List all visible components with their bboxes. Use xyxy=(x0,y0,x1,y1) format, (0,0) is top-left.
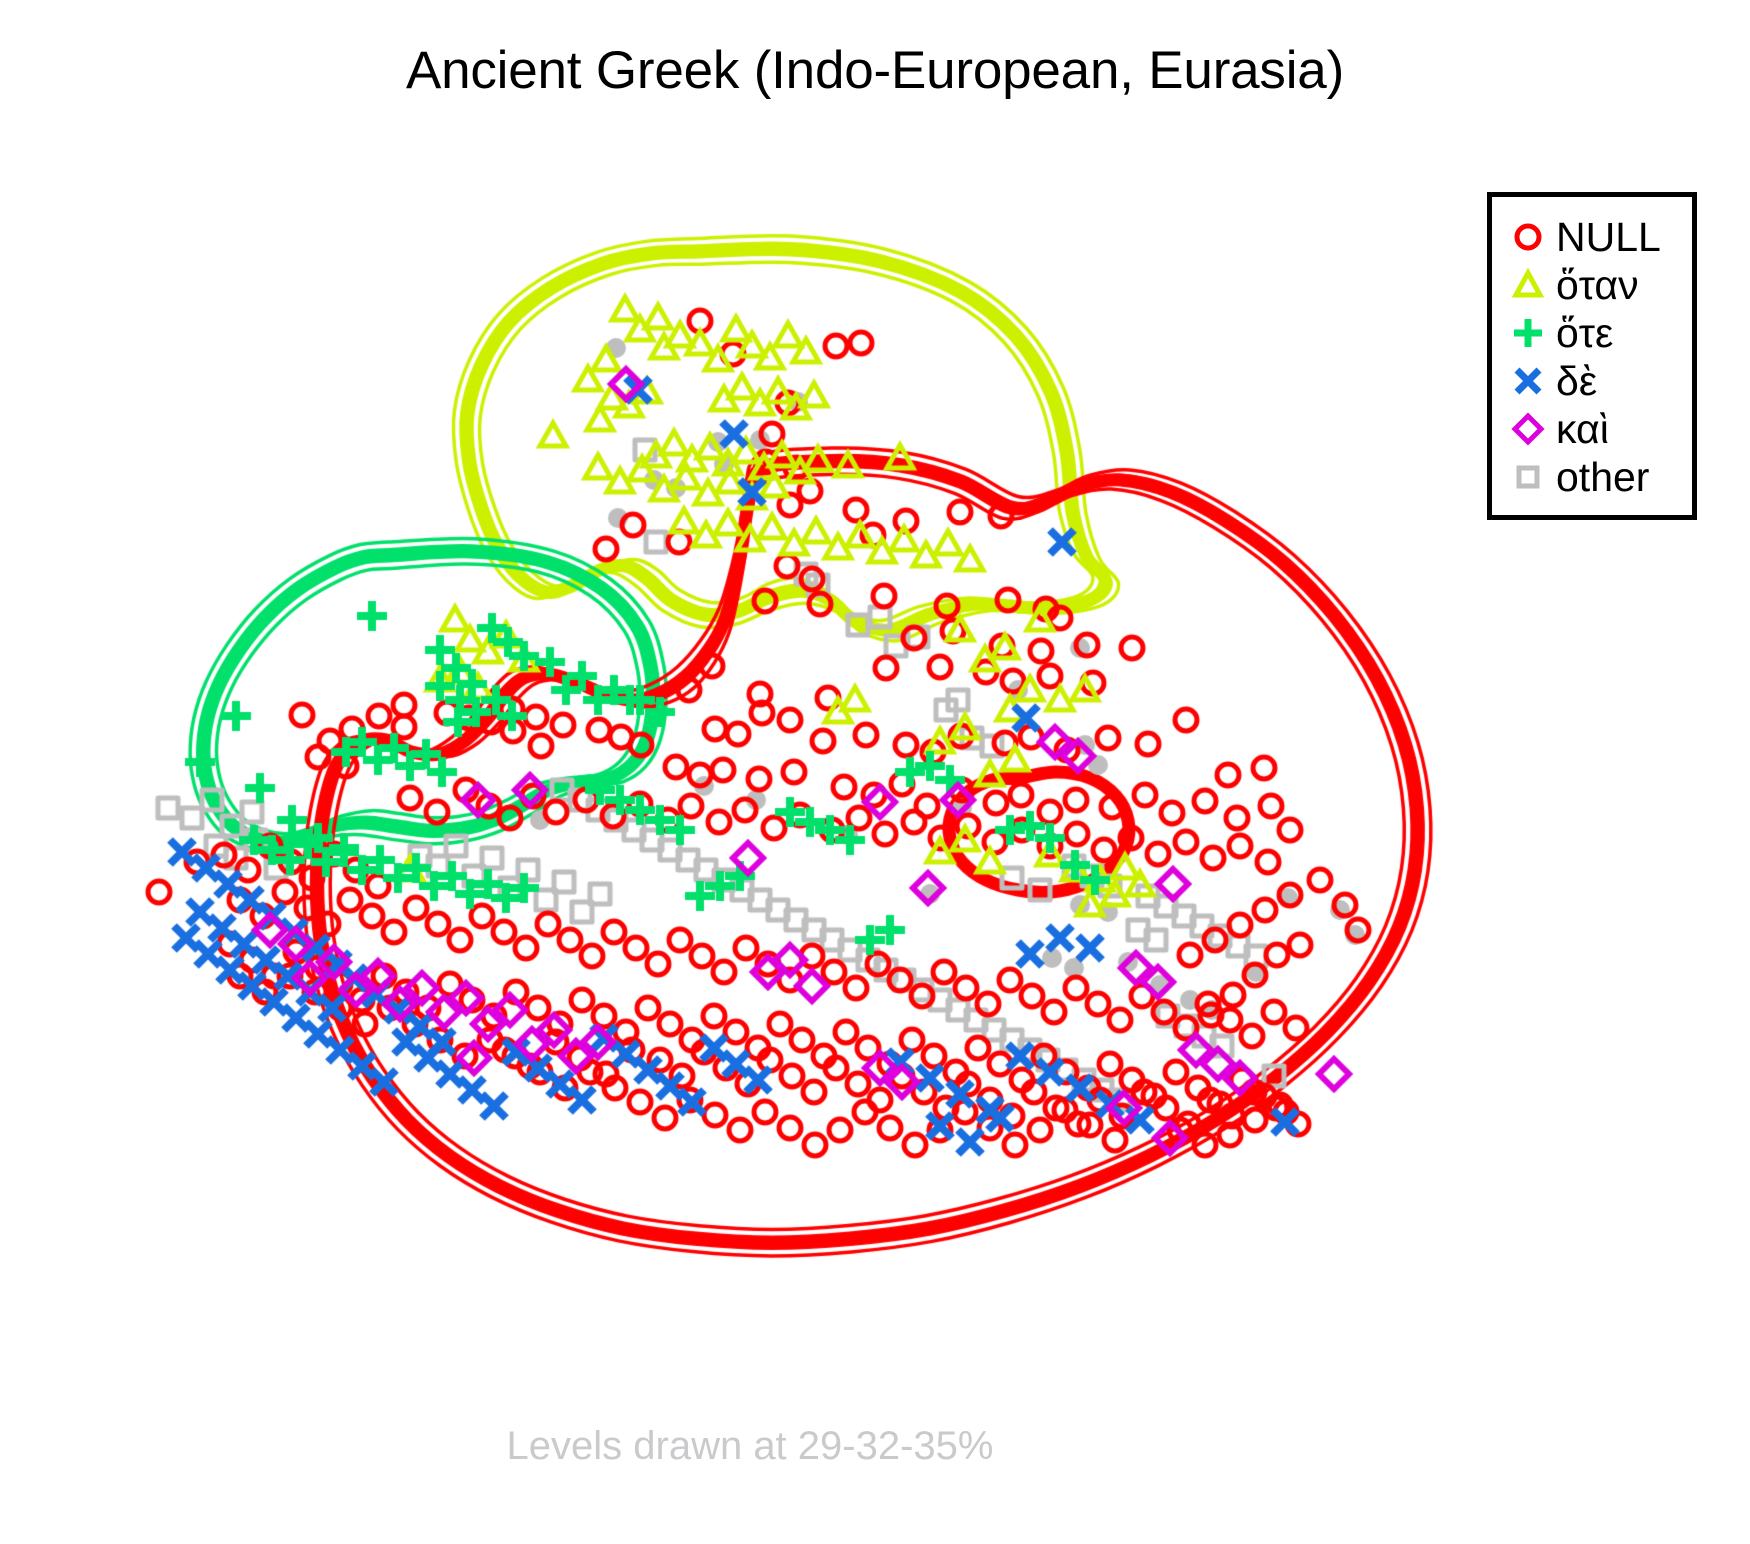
cross-icon xyxy=(1506,363,1550,399)
legend: NULL ὅταν ὅτε δὲ καὶ xyxy=(1487,192,1697,520)
legend-label-hotan: ὅταν xyxy=(1550,265,1639,306)
legend-label-de: δὲ xyxy=(1550,361,1597,402)
legend-item-hotan[interactable]: ὅταν xyxy=(1506,261,1682,309)
legend-label-null: NULL xyxy=(1550,217,1661,258)
legend-item-hote[interactable]: ὅτε xyxy=(1506,309,1682,357)
circle-icon xyxy=(1506,219,1550,255)
legend-item-de[interactable]: δὲ xyxy=(1506,357,1682,405)
legend-label-hote: ὅτε xyxy=(1550,313,1613,354)
legend-item-kai[interactable]: καὶ xyxy=(1506,405,1682,453)
plot-caption: Levels drawn at 29-32-35% xyxy=(0,1424,1500,1469)
diamond-icon xyxy=(1506,411,1550,447)
square-icon xyxy=(1506,459,1550,495)
legend-item-other[interactable]: other xyxy=(1506,453,1682,501)
triangle-icon xyxy=(1506,267,1550,303)
plus-icon xyxy=(1506,315,1550,351)
legend-label-kai: καὶ xyxy=(1550,409,1609,450)
legend-item-null[interactable]: NULL xyxy=(1506,213,1682,261)
legend-label-other: other xyxy=(1550,457,1649,498)
plot-root: Ancient Greek (Indo-European, Eurasia) L… xyxy=(0,0,1750,1544)
